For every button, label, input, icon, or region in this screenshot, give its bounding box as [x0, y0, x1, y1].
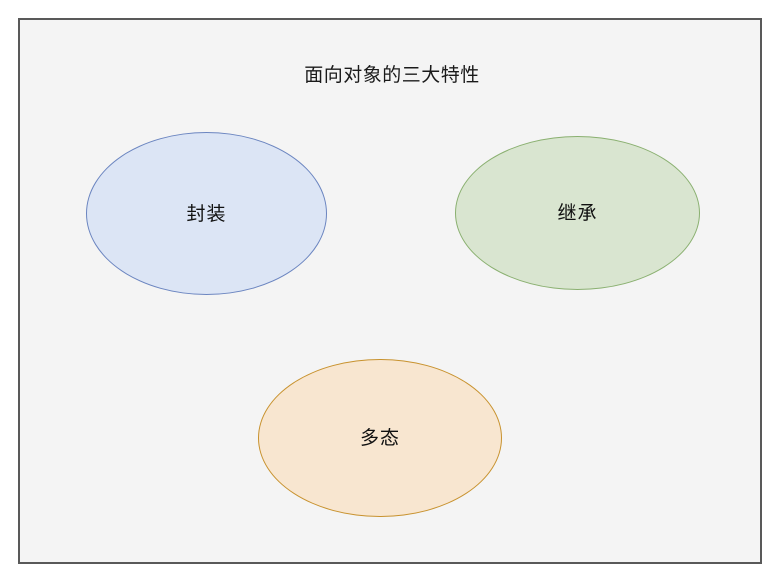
- diagram-frame: 面向对象的三大特性 封装 继承 多态: [18, 18, 762, 564]
- node-polymorphism-label: 多态: [360, 426, 400, 450]
- node-encapsulation[interactable]: 封装: [86, 132, 327, 295]
- node-polymorphism[interactable]: 多态: [258, 359, 502, 517]
- node-inheritance-label: 继承: [557, 201, 597, 225]
- node-encapsulation-label: 封装: [186, 202, 226, 226]
- page-title: 面向对象的三大特性: [20, 62, 764, 88]
- node-inheritance[interactable]: 继承: [455, 136, 700, 290]
- diagram-canvas: 面向对象的三大特性 封装 继承 多态: [0, 0, 780, 578]
